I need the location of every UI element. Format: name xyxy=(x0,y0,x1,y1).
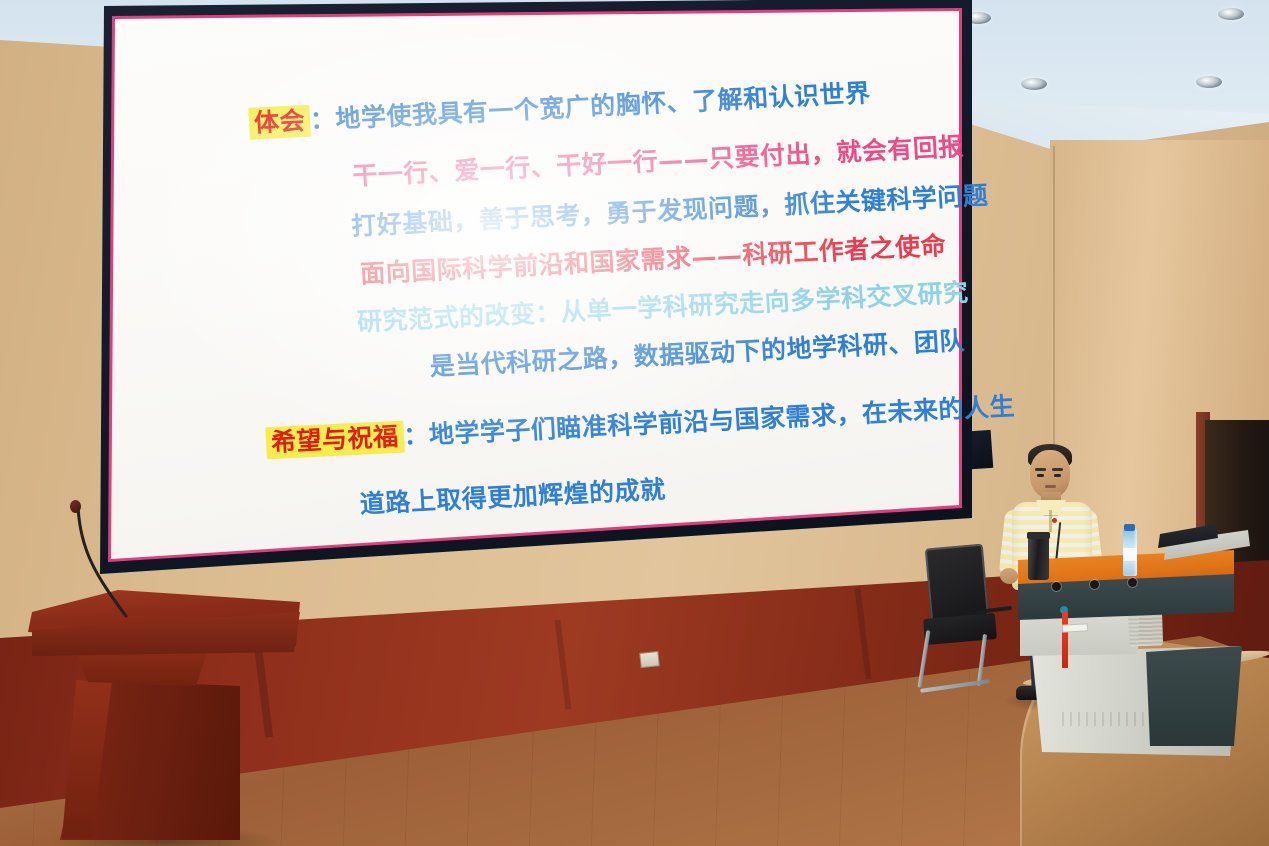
podium-drawer-handle[interactable] xyxy=(1062,623,1088,632)
slide-line-1: 体会：地学使我具有一个宽广的胸怀、了解和认识世界 xyxy=(248,73,871,139)
slide-text: 地学使我具有一个宽广的胸怀、了解和认识世界 xyxy=(335,78,872,133)
downlight-icon xyxy=(1196,76,1222,88)
downlight-icon xyxy=(1021,78,1047,90)
presenter-brow xyxy=(1035,468,1046,471)
podium-knob-icon[interactable] xyxy=(1128,578,1137,587)
presenter-eye xyxy=(1054,474,1061,477)
presenter-brow xyxy=(1052,468,1063,471)
slide-line-7: 希望与祝福：地学学子们瞄准科学前沿与国家需求，在未来的人生 xyxy=(265,387,1016,460)
gooseneck-microphone-icon xyxy=(40,490,170,630)
chair-leg xyxy=(977,634,987,686)
podium-control-knobs xyxy=(1052,582,1182,596)
podium-base-panel xyxy=(1146,646,1242,752)
projection-screen: 体会：地学使我具有一个宽广的胸怀、了解和认识世界 干一行、爱一行、干好一行——只… xyxy=(94,0,972,580)
slide-text: 地学学子们瞄准科学前沿与国家需求，在未来的人生 xyxy=(428,392,1016,450)
presenter-eye xyxy=(1037,474,1044,477)
podium-knob-icon[interactable] xyxy=(1052,582,1061,591)
slide-line-8: 道路上取得更加辉煌的成就 xyxy=(359,470,667,521)
presenter-head xyxy=(1030,450,1070,498)
microphone-capsule-icon xyxy=(70,500,81,513)
podium-knob-icon[interactable] xyxy=(1090,580,1099,589)
water-bottle-cap xyxy=(1124,524,1135,531)
downlight-icon xyxy=(1218,8,1244,20)
podium-vent-grille xyxy=(1062,712,1146,726)
mesh-back-chair xyxy=(918,546,1010,694)
water-bottle-label xyxy=(1123,548,1137,561)
colon: ： xyxy=(403,420,430,450)
thermos-cup xyxy=(1028,536,1049,580)
colon: ： xyxy=(309,105,336,135)
wall-outlet xyxy=(639,651,659,668)
slide-content: 体会：地学使我具有一个宽广的胸怀、了解和认识世界 干一行、爱一行、干好一行——只… xyxy=(81,0,993,601)
multimedia-podium xyxy=(1010,520,1240,750)
heading-xiwang: 希望与祝福 xyxy=(265,421,404,460)
presenter-mouth xyxy=(1045,485,1056,488)
heading-tihui: 体会 xyxy=(248,105,311,140)
podium-red-marker xyxy=(1062,612,1068,668)
screenshot-root: 体会：地学使我具有一个宽广的胸怀、了解和认识世界 干一行、爱一行、干好一行——只… xyxy=(0,0,1269,846)
chair-leg xyxy=(920,679,990,693)
thermos-lid xyxy=(1027,532,1050,539)
